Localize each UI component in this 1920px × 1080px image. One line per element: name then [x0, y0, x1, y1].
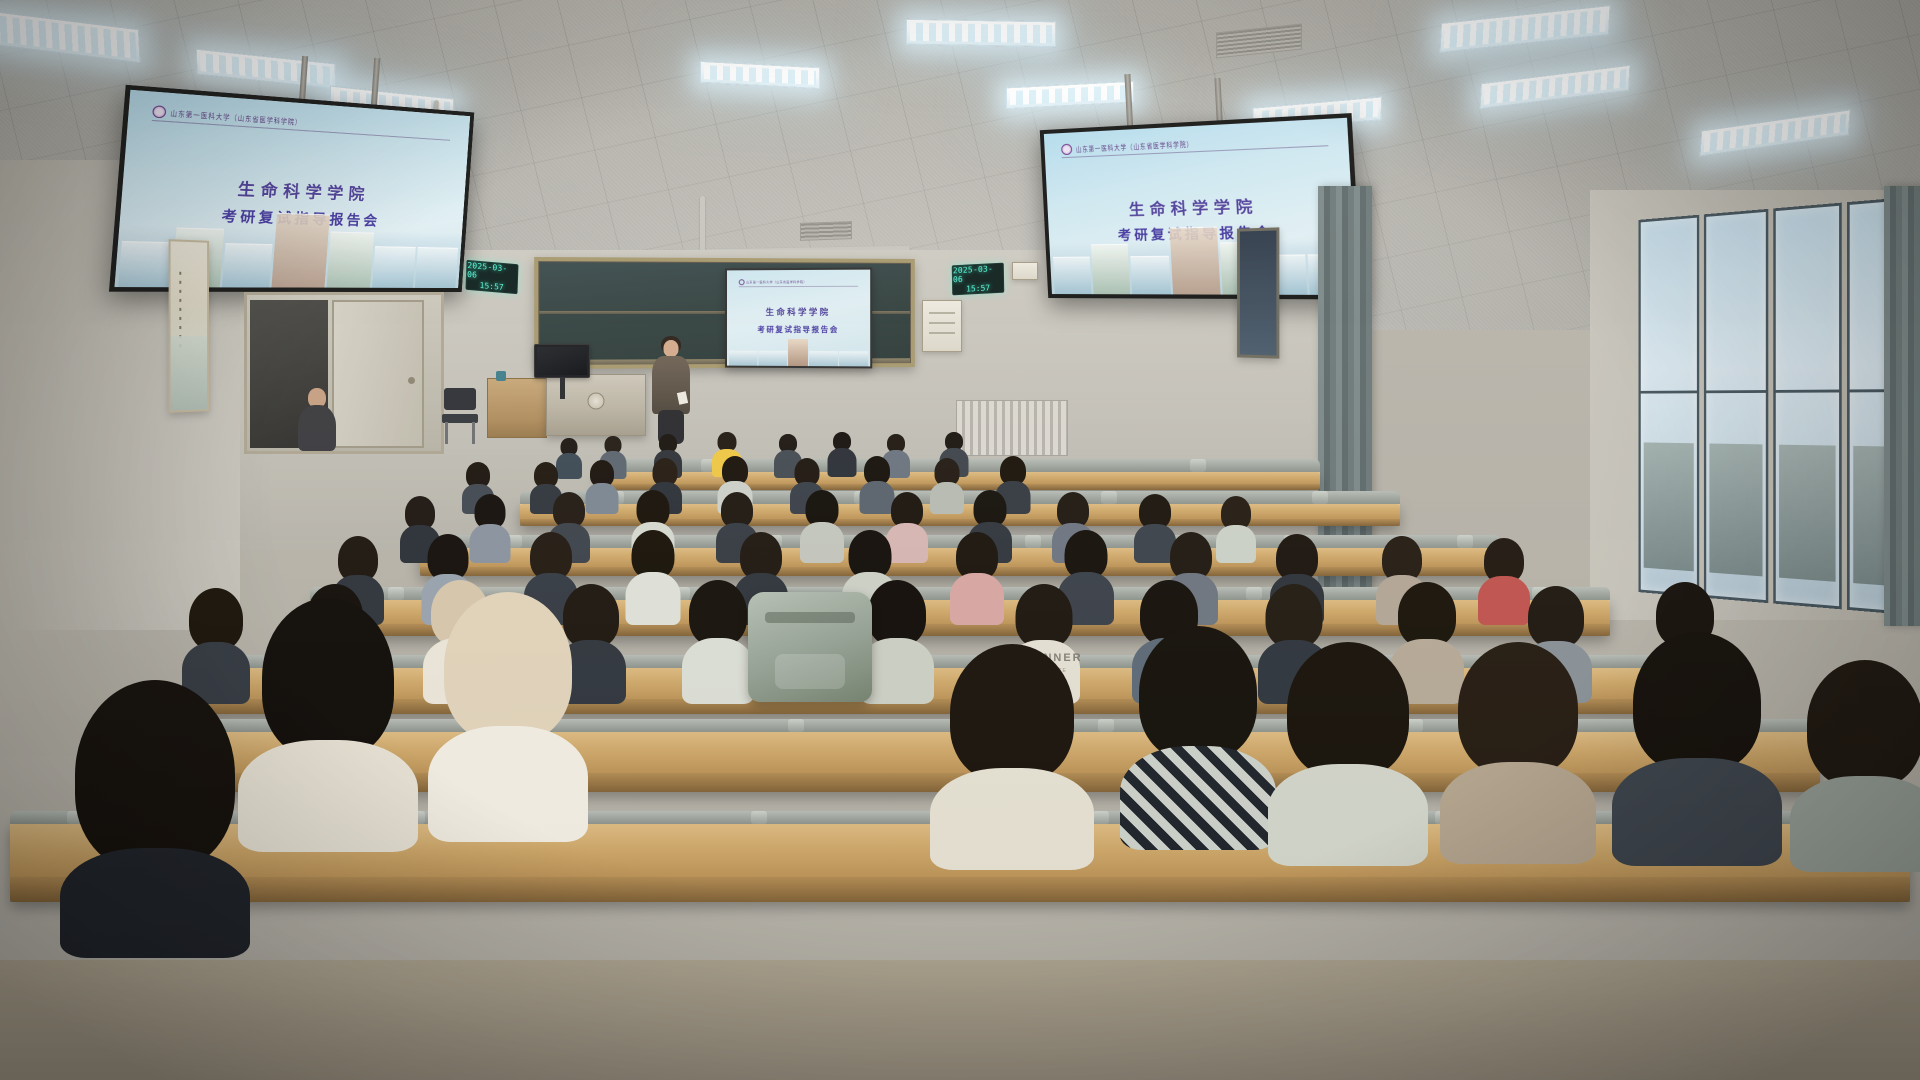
digital-clock-left: 2025-03-06 15:57	[465, 260, 518, 294]
left-tv-campus-imagery	[114, 224, 462, 288]
side-table	[487, 378, 547, 438]
backpack-on-desk	[748, 592, 872, 702]
seated-attendee-foreground	[238, 598, 418, 838]
projection-title-line1: 生命科学学院	[727, 306, 870, 318]
framed-wall-art	[1237, 227, 1279, 358]
left-wall-mounted-tv[interactable]: 山东第一医科大学（山东省医学科学院） 生命科学学院 考研复试指导报告会	[109, 85, 474, 292]
seated-attendee	[1216, 496, 1256, 558]
clock-time: 15:57	[479, 281, 503, 292]
seated-attendee-foreground	[60, 680, 250, 940]
seated-attendee	[930, 458, 964, 510]
seated-attendee-foreground	[1790, 660, 1920, 860]
scroll-landscape	[171, 336, 208, 411]
university-logo-icon	[152, 105, 167, 118]
seated-attendee	[682, 580, 754, 696]
seated-attendee	[470, 494, 510, 558]
podium-monitor	[534, 344, 590, 378]
seated-attendee	[586, 460, 618, 510]
projection-content: 山东第一医科大学（山东省医学科学院） 生命科学学院 考研复试指导报告会	[727, 270, 870, 367]
university-logo-icon	[1061, 144, 1072, 156]
seated-attendee	[626, 530, 680, 618]
clock-date: 2025-03-06	[953, 264, 1003, 285]
school-emblem-icon	[588, 393, 605, 410]
audience-seating: WINNER THE FLEECE	[0, 430, 1920, 1080]
digital-clock-right: 2025-03-06 15:57	[952, 263, 1005, 296]
university-name: 山东第一医科大学（山东省医学科学院）	[1076, 138, 1194, 154]
clock-time: 15:57	[966, 283, 990, 293]
right-tv-screen-content: 山东第一医科大学（山东省医学科学院） 生命科学学院 考研复试指导报告会	[1044, 118, 1357, 295]
right-tv-campus-imagery	[1049, 238, 1357, 295]
hanging-scroll-artwork	[169, 239, 209, 413]
seated-attendee-foreground	[1440, 642, 1596, 852]
door-knob-icon[interactable]	[408, 377, 415, 384]
ceiling-air-vent	[800, 221, 852, 241]
seated-attendee-foreground	[428, 592, 588, 828]
seated-attendee-foreground	[1268, 642, 1428, 854]
seated-attendee	[800, 490, 844, 558]
university-name: 山东第一医科大学（山东省医学科学院）	[746, 280, 807, 284]
classroom-door[interactable]	[332, 300, 424, 448]
projection-title-line2: 考研复试指导报告会	[727, 324, 870, 335]
wall-notice-board	[922, 300, 962, 352]
university-logo-icon	[738, 279, 744, 285]
seated-attendee-foreground	[1612, 632, 1782, 854]
right-tv-header: 山东第一医科大学（山东省医学科学院）	[1061, 131, 1329, 158]
presenter	[648, 336, 694, 442]
center-projection-screen: 山东第一医科大学（山东省医学科学院） 生命科学学院 考研复试指导报告会	[725, 268, 872, 369]
clock-date: 2025-03-06	[467, 261, 518, 284]
seated-attendee-foreground	[930, 644, 1094, 854]
right-tv-title-line1: 生命科学学院	[1047, 192, 1352, 222]
ceiling-light-panel	[906, 19, 1056, 48]
projection-header: 山东第一医科大学（山东省医学科学院）	[738, 278, 858, 286]
seated-attendee-foreground	[1120, 626, 1276, 842]
seated-attendee	[828, 432, 856, 476]
desk-object	[496, 371, 506, 381]
lecture-hall-photograph: 山东第一医科大学（山东省医学科学院） 生命科学学院 考研复试指导报告会 山东第一…	[0, 0, 1920, 1080]
seated-attendee	[950, 532, 1004, 618]
university-name: 山东第一医科大学（山东省医学科学院）	[170, 107, 302, 127]
right-wall-mounted-tv[interactable]: 山东第一医科大学（山东省医学科学院） 生命科学学院 考研复试指导报告会	[1040, 113, 1362, 299]
left-tv-header: 山东第一医科大学（山东省医学科学院）	[151, 105, 451, 141]
projection-campus-imagery	[727, 341, 870, 367]
wall-notice-small	[1012, 262, 1038, 280]
